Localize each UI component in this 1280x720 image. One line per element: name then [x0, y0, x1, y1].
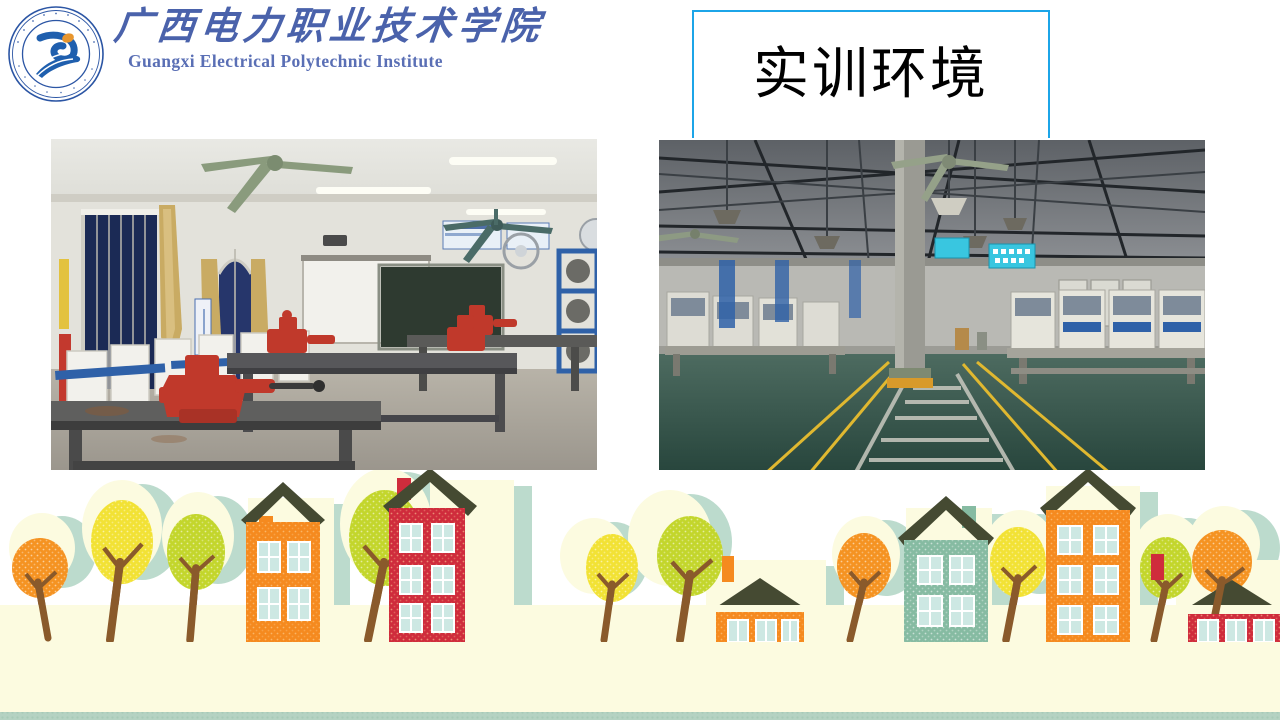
institution-emblem-icon: [6, 4, 106, 104]
institution-name-group: 广西电力职业技术学院 Guangxi Electrical Polytechni…: [114, 6, 544, 72]
institution-logo-block: 广西电力职业技术学院 Guangxi Electrical Polytechni…: [6, 4, 544, 104]
decorative-town-skyline-border: [0, 470, 1280, 720]
page-title: 实训环境: [753, 47, 989, 103]
footer-bottom-strip: [0, 712, 1280, 720]
slide-title-box: 实训环境: [692, 10, 1050, 138]
institution-name-cn: 广西电力职业技术学院: [112, 6, 547, 50]
institution-name-en: Guangxi Electrical Polytechnic Institute: [128, 51, 544, 72]
photo-fitter-workshop-classroom: [51, 139, 597, 473]
slide-canvas: 广西电力职业技术学院 Guangxi Electrical Polytechni…: [0, 0, 1280, 720]
photo-electrical-machinery-workshop: [659, 140, 1205, 474]
